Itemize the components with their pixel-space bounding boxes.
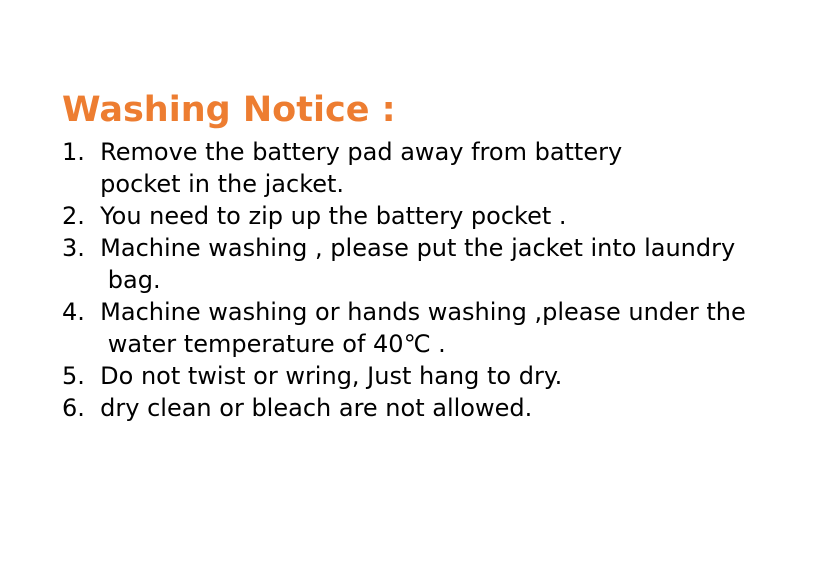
- list-item: 3. Machine washing , please put the jack…: [62, 232, 782, 296]
- list-item: 2. You need to zip up the battery pocket…: [62, 200, 782, 232]
- list-item: 1. Remove the battery pad away from batt…: [62, 136, 782, 200]
- list-item: 6. dry clean or bleach are not allowed.: [62, 392, 782, 424]
- washing-instructions-list: 1. Remove the battery pad away from batt…: [62, 136, 782, 424]
- list-item: 4. Machine washing or hands washing ,ple…: [62, 296, 782, 360]
- list-item: 5. Do not twist or wring, Just hang to d…: [62, 360, 782, 392]
- page-title: Washing Notice :: [62, 88, 782, 132]
- washing-notice-block: Washing Notice : 1. Remove the battery p…: [62, 88, 782, 424]
- document-page: Washing Notice : 1. Remove the battery p…: [0, 0, 834, 580]
